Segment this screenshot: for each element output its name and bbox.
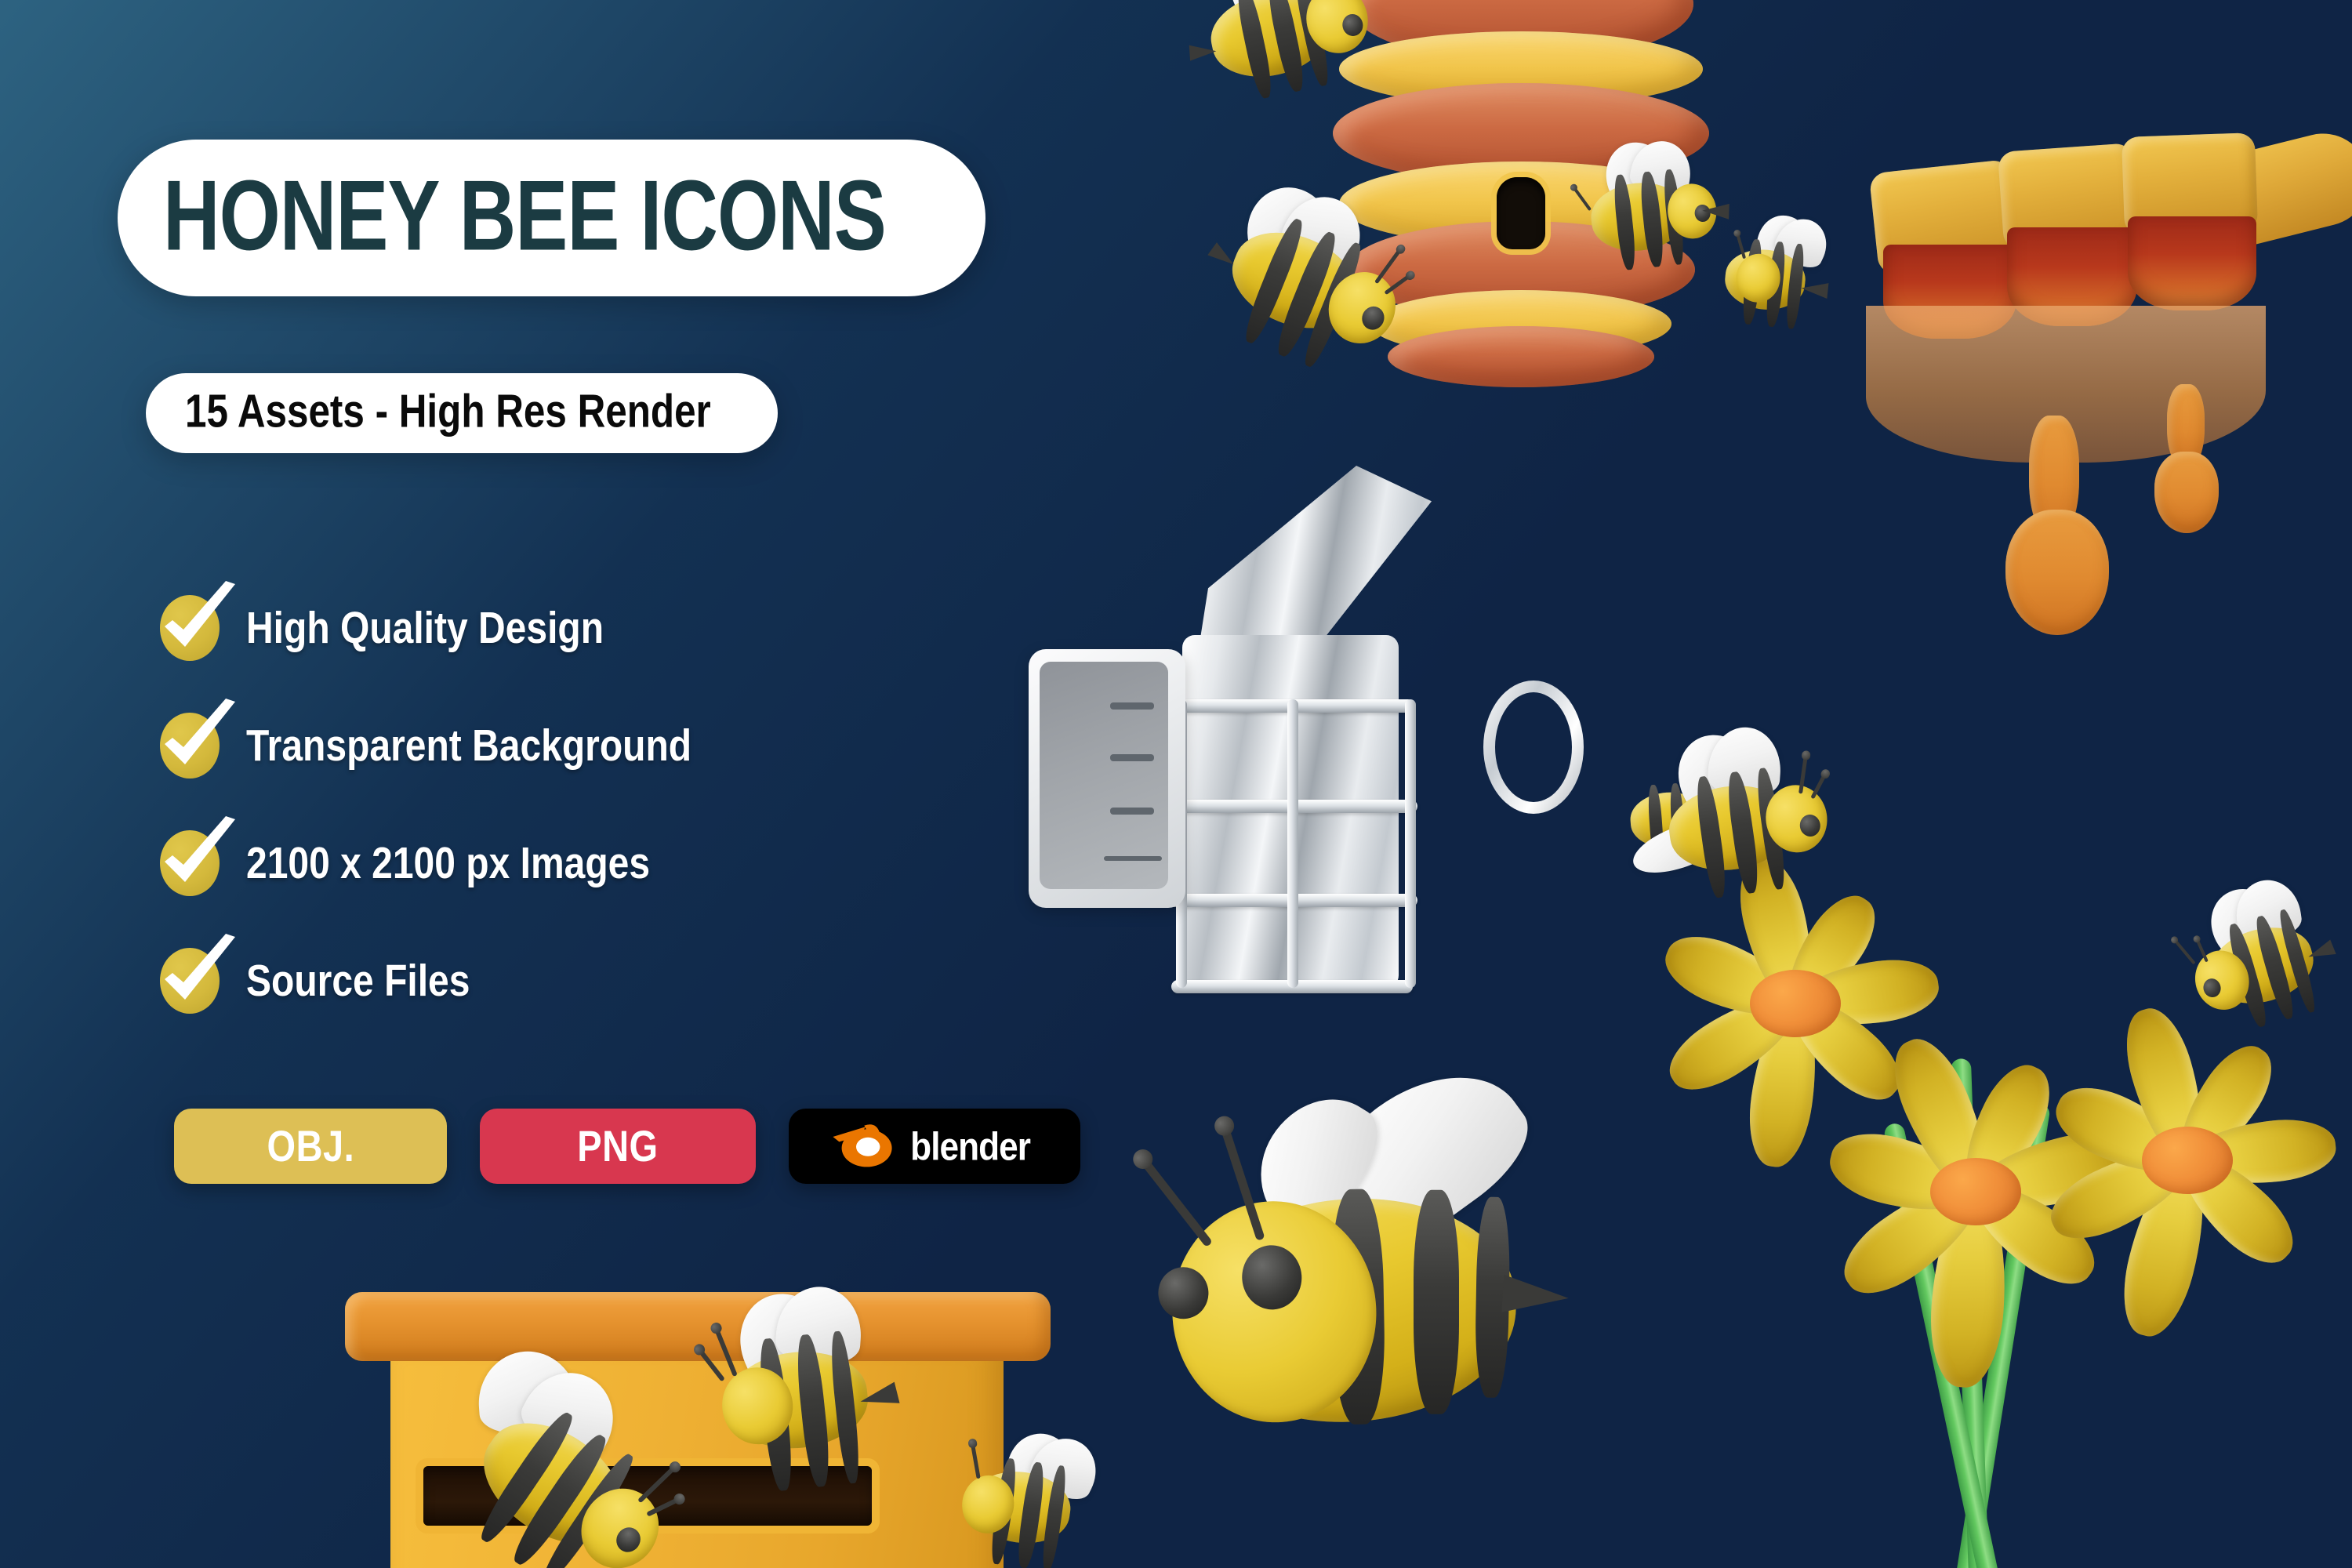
feature-item: Source Files xyxy=(154,950,710,1011)
feature-label: 2100 x 2100 px Images xyxy=(246,837,650,889)
honey-bee-large xyxy=(1166,1107,1609,1434)
check-icon xyxy=(154,816,240,902)
hive-entrance xyxy=(1497,177,1545,249)
flower xyxy=(2031,1027,2344,1294)
check-icon xyxy=(154,699,240,785)
feature-item: Transparent Background xyxy=(154,715,710,776)
badge-png-label: PNG xyxy=(577,1121,658,1172)
subtitle-pill: 15 Assets - High Res Render xyxy=(146,373,778,453)
feature-item: 2100 x 2100 px Images xyxy=(154,833,710,894)
left-content-column: HONEY BEE ICONS 15 Assets - High Res Ren… xyxy=(0,0,1176,1568)
badge-blender[interactable]: blender xyxy=(789,1109,1080,1184)
badge-obj-label: OBJ. xyxy=(267,1121,354,1172)
feature-label: Source Files xyxy=(246,955,470,1007)
check-badge xyxy=(154,943,229,1018)
feature-label: High Quality Design xyxy=(246,602,604,654)
page-title: HONEY BEE ICONS xyxy=(163,157,886,273)
subtitle-text: 15 Assets - High Res Render xyxy=(185,385,711,439)
badge-obj[interactable]: OBJ. xyxy=(174,1109,447,1184)
badge-png[interactable]: PNG xyxy=(480,1109,756,1184)
check-badge xyxy=(154,826,229,901)
feature-label: Transparent Background xyxy=(246,720,691,771)
check-badge xyxy=(154,590,229,666)
format-badge-group: OBJ. PNG blender xyxy=(174,1109,1080,1184)
badge-blender-label: blender xyxy=(911,1123,1031,1169)
check-badge xyxy=(154,708,229,783)
check-icon xyxy=(154,581,240,667)
smoker-spout xyxy=(1196,466,1432,663)
check-icon xyxy=(154,934,240,1020)
blender-logo-icon xyxy=(828,1118,903,1174)
honey-dipper-illustration xyxy=(1850,47,2352,721)
smoker-handle xyxy=(1483,681,1584,814)
bee xyxy=(1588,176,1712,261)
feature-item: High Quality Design xyxy=(154,597,710,659)
feature-list: High Quality Design Transparent Backgrou… xyxy=(154,597,710,1068)
title-pill: HONEY BEE ICONS xyxy=(118,140,985,296)
bee xyxy=(1722,246,1828,322)
